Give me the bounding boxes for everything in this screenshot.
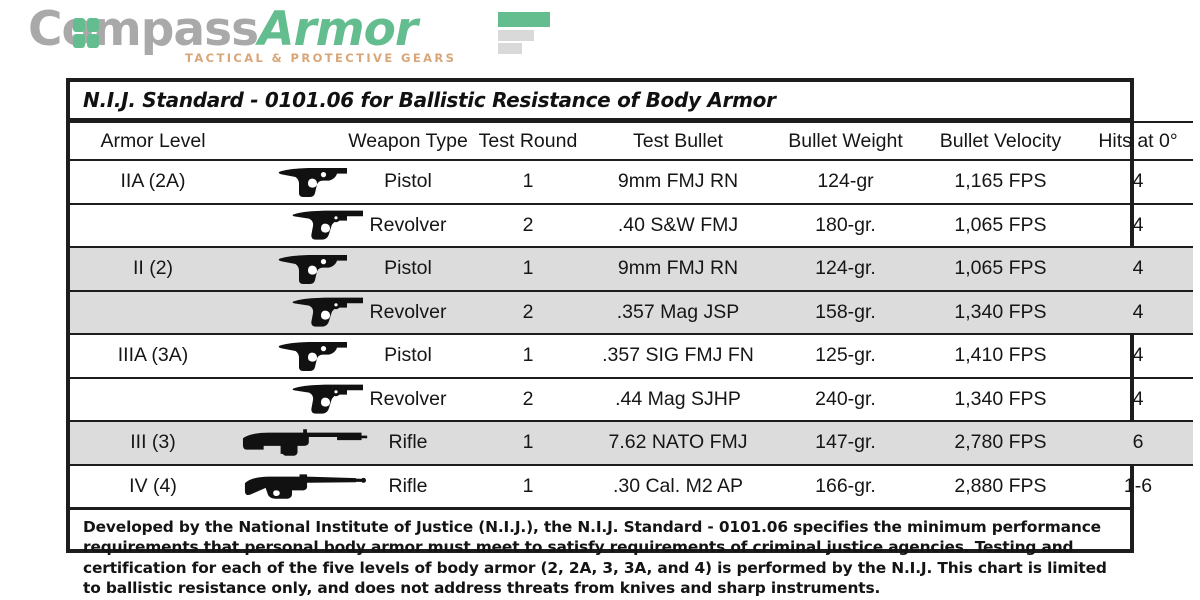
logo-flag-mark [498,12,550,58]
cell-test-round: 1 [473,247,583,291]
cell-armor-level: IV (4) [70,465,223,508]
cell-test-round: 1 [473,334,583,378]
cell-bullet-velocity: 2,880 FPS [918,465,1083,508]
revolver-icon [223,291,343,335]
chart-title-bar: N.I.J. Standard - 0101.06 for Ballistic … [70,82,1130,121]
revolver-icon [223,204,343,248]
cell-bullet-velocity: 1,340 FPS [918,378,1083,422]
cell-test-round: 1 [473,160,583,204]
cell-hits-at-0: 4 [1083,291,1193,335]
table-header: Armor Level Weapon Type Test Round Test … [70,122,1193,160]
table-row: Revolver2.40 S&W FMJ180-gr.1,065 FPS4 [70,204,1193,248]
table-row: Revolver2.357 Mag JSP158-gr.1,340 FPS4 [70,291,1193,335]
chart-footnote: Developed by the National Institute of J… [70,507,1130,599]
header-row: Armor Level Weapon Type Test Round Test … [70,122,1193,160]
cell-bullet-weight: 147-gr. [773,421,918,465]
cell-bullet-velocity: 1,065 FPS [918,204,1083,248]
cell-armor-level: IIA (2A) [70,160,223,204]
table-row: IIA (2A)Pistol19mm FMJ RN124-gr1,165 FPS… [70,160,1193,204]
cell-armor-level [70,291,223,335]
cell-test-bullet: .30 Cal. M2 AP [583,465,773,508]
cell-test-bullet: .44 Mag SJHP [583,378,773,422]
cell-hits-at-0: 1-6 [1083,465,1193,508]
pistol-icon [223,247,343,291]
revolver-icon [223,378,343,422]
cell-bullet-weight: 158-gr. [773,291,918,335]
cell-bullet-velocity: 1,410 FPS [918,334,1083,378]
column-header-test-round: Test Round [473,122,583,160]
cell-hits-at-0: 4 [1083,204,1193,248]
logo-o-segment [73,34,85,48]
cell-hits-at-0: 6 [1083,421,1193,465]
cell-test-round: 1 [473,465,583,508]
cell-bullet-velocity: 1,165 FPS [918,160,1083,204]
cell-bullet-velocity: 1,065 FPS [918,247,1083,291]
column-header-hits-at-0: Hits at 0° [1083,122,1193,160]
table-row: IV (4)Rifle1.30 Cal. M2 AP166-gr.2,880 F… [70,465,1193,508]
table-row: Revolver2.44 Mag SJHP240-gr.1,340 FPS4 [70,378,1193,422]
logo-armor-text: Armor [258,2,417,57]
cell-test-bullet: .40 S&W FMJ [583,204,773,248]
bolt-rifle-icon [223,465,343,508]
column-header-weapon-type: Weapon Type [343,122,473,160]
cell-test-round: 2 [473,204,583,248]
cell-test-bullet: .357 Mag JSP [583,291,773,335]
nij-standard-chart: N.I.J. Standard - 0101.06 for Ballistic … [66,78,1134,553]
cell-armor-level [70,378,223,422]
table-row: III (3)Rifle17.62 NATO FMJ147-gr.2,780 F… [70,421,1193,465]
cell-hits-at-0: 4 [1083,247,1193,291]
pistol-icon [223,160,343,204]
cell-hits-at-0: 4 [1083,334,1193,378]
logo-compass-text: Compass [28,2,258,57]
cell-bullet-velocity: 1,340 FPS [918,291,1083,335]
cell-armor-level: II (2) [70,247,223,291]
column-header-bullet-weight: Bullet Weight [773,122,918,160]
cell-bullet-weight: 124-gr [773,160,918,204]
logo-o-segment [87,34,99,48]
brand-logo: CompassArmor TACTICAL & PROTECTIVE GEARS [28,4,548,70]
cell-test-bullet: .357 SIG FMJ FN [583,334,773,378]
cell-test-bullet: 7.62 NATO FMJ [583,421,773,465]
cell-test-bullet: 9mm FMJ RN [583,247,773,291]
column-header-bullet-velocity: Bullet Velocity [918,122,1083,160]
cell-weapon-type: Pistol [343,334,473,378]
cell-test-bullet: 9mm FMJ RN [583,160,773,204]
chart-title: N.I.J. Standard - 0101.06 for Ballistic … [83,88,776,112]
cell-bullet-velocity: 2,780 FPS [918,421,1083,465]
cell-bullet-weight: 166-gr. [773,465,918,508]
logo-o-segment [87,18,99,32]
table-body: IIA (2A)Pistol19mm FMJ RN124-gr1,165 FPS… [70,160,1193,507]
column-header-weapon-icon [223,122,343,160]
logo-o-segment [73,18,85,32]
cell-test-round: 2 [473,378,583,422]
cell-hits-at-0: 4 [1083,160,1193,204]
cell-weapon-type: Pistol [343,160,473,204]
cell-armor-level: III (3) [70,421,223,465]
nij-table: Armor Level Weapon Type Test Round Test … [70,121,1193,507]
battle-rifle-icon [223,421,343,465]
column-header-armor-level: Armor Level [70,122,223,160]
pistol-icon [223,334,343,378]
table-row: II (2)Pistol19mm FMJ RN124-gr.1,065 FPS4 [70,247,1193,291]
table-row: IIIA (3A)Pistol1.357 SIG FMJ FN125-gr.1,… [70,334,1193,378]
cell-test-round: 1 [473,421,583,465]
cell-bullet-weight: 180-gr. [773,204,918,248]
cell-armor-level [70,204,223,248]
cell-bullet-weight: 240-gr. [773,378,918,422]
cell-bullet-weight: 125-gr. [773,334,918,378]
logo-tagline: TACTICAL & PROTECTIVE GEARS [185,51,456,65]
cell-bullet-weight: 124-gr. [773,247,918,291]
cell-weapon-type: Pistol [343,247,473,291]
column-header-test-bullet: Test Bullet [583,122,773,160]
cell-test-round: 2 [473,291,583,335]
cell-armor-level: IIIA (3A) [70,334,223,378]
cell-hits-at-0: 4 [1083,378,1193,422]
